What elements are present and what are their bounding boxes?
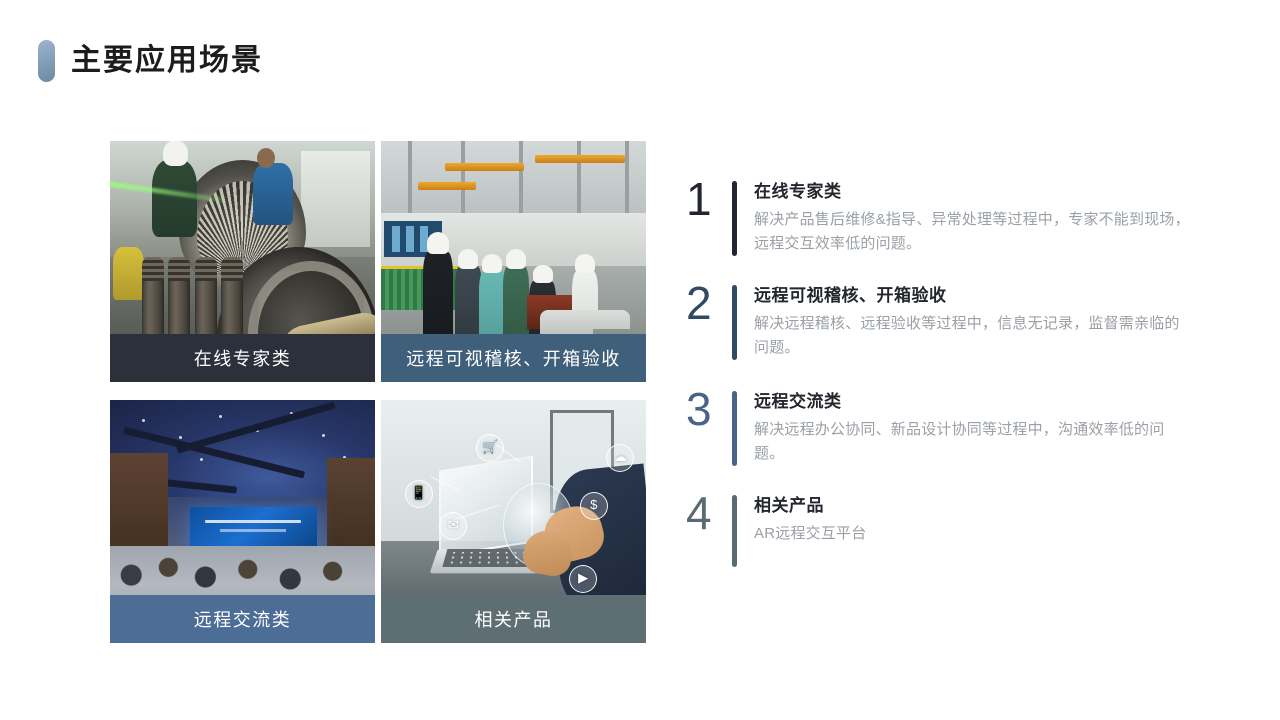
list-item[interactable]: 4 相关产品 AR远程交互平台 (686, 492, 1206, 567)
scenario-card-remote-audit[interactable]: 远程可视稽核、开箱验收 (381, 141, 646, 382)
point-title: 远程交流类 (754, 389, 1206, 415)
point-text-block: 在线专家类 解决产品售后维修&指导、异常处理等过程中，专家不能到现场，远程交互效… (754, 178, 1206, 256)
mail-icon: ✉ (439, 512, 467, 540)
point-accent-bar (732, 181, 737, 256)
cloud-icon: ☁ (606, 444, 634, 472)
dollar-icon: $ (580, 492, 608, 520)
scenario-card-remote-communication[interactable]: 远程交流类 (110, 400, 375, 643)
point-description: 解决产品售后维修&指导、异常处理等过程中，专家不能到现场，远程交互效率低的问题。 (754, 208, 1190, 257)
point-accent-bar (732, 285, 737, 360)
point-text-block: 相关产品 AR远程交互平台 (754, 492, 1206, 546)
point-number: 4 (686, 492, 732, 536)
point-description: AR远程交互平台 (754, 522, 1190, 546)
point-title: 在线专家类 (754, 179, 1206, 205)
slide-header: 主要应用场景 (38, 40, 263, 82)
point-text-block: 远程交流类 解决远程办公协同、新品设计协同等过程中，沟通效率低的问题。 (754, 388, 1206, 466)
scenario-point-list: 1 在线专家类 解决产品售后维修&指导、异常处理等过程中，专家不能到现场，远程交… (686, 178, 1206, 589)
point-text-block: 远程可视稽核、开箱验收 解决远程稽核、远程验收等过程中，信息无记录，监督需亲临的… (754, 282, 1206, 360)
pill-bullet-icon (38, 40, 55, 82)
point-number: 3 (686, 388, 732, 432)
card-caption: 远程交流类 (110, 595, 375, 643)
card-caption: 相关产品 (381, 595, 646, 643)
point-description: 解决远程稽核、远程验收等过程中，信息无记录，监督需亲临的问题。 (754, 312, 1190, 361)
point-description: 解决远程办公协同、新品设计协同等过程中，沟通效率低的问题。 (754, 418, 1190, 467)
scenario-card-grid: 在线专家类 远程可视稽核、开箱 (110, 141, 646, 643)
point-title: 相关产品 (754, 493, 1206, 519)
point-title: 远程可视稽核、开箱验收 (754, 283, 1206, 309)
list-item[interactable]: 2 远程可视稽核、开箱验收 解决远程稽核、远程验收等过程中，信息无记录，监督需亲… (686, 282, 1206, 360)
point-number: 1 (686, 178, 732, 222)
scenario-card-online-expert[interactable]: 在线专家类 (110, 141, 375, 382)
point-accent-bar (732, 391, 737, 466)
card-caption: 在线专家类 (110, 334, 375, 382)
point-accent-bar (732, 495, 737, 567)
point-number: 2 (686, 282, 732, 326)
scenario-card-related-product[interactable]: 🛒 ✉ ☁ $ 📱 ▶ □ 相关产品 (381, 400, 646, 643)
page-title: 主要应用场景 (71, 46, 263, 76)
card-caption: 远程可视稽核、开箱验收 (381, 334, 646, 382)
list-item[interactable]: 1 在线专家类 解决产品售后维修&指导、异常处理等过程中，专家不能到现场，远程交… (686, 178, 1206, 256)
phone-icon: 📱 (405, 480, 433, 508)
list-item[interactable]: 3 远程交流类 解决远程办公协同、新品设计协同等过程中，沟通效率低的问题。 (686, 388, 1206, 466)
